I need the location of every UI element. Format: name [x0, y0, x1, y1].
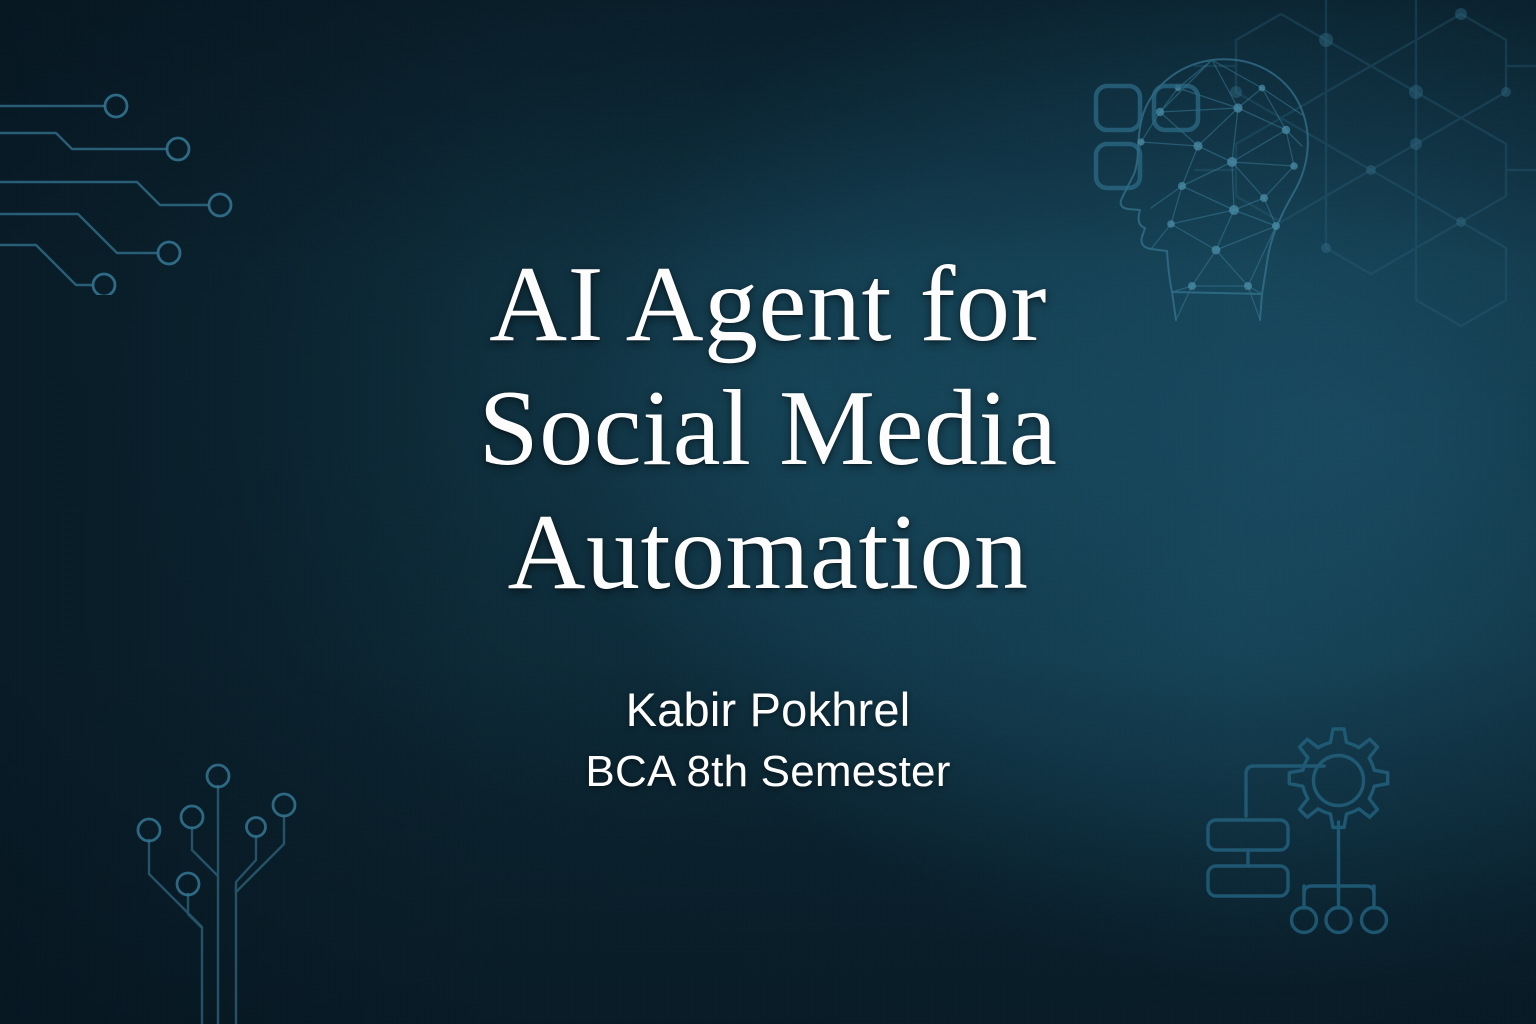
- presenter-name: Kabir Pokhrel: [585, 682, 950, 737]
- title-line-2: Social Media: [278, 367, 1258, 491]
- title-slide: AI Agent for Social Media Automation Kab…: [0, 0, 1536, 1024]
- page-title: AI Agent for Social Media Automation: [278, 243, 1258, 616]
- subtitle-block: Kabir Pokhrel BCA 8th Semester: [585, 682, 950, 801]
- title-line-3: Automation: [278, 491, 1258, 615]
- slide-content: AI Agent for Social Media Automation Kab…: [0, 0, 1536, 1024]
- presenter-detail: BCA 8th Semester: [585, 743, 950, 800]
- title-line-1: AI Agent for: [278, 243, 1258, 367]
